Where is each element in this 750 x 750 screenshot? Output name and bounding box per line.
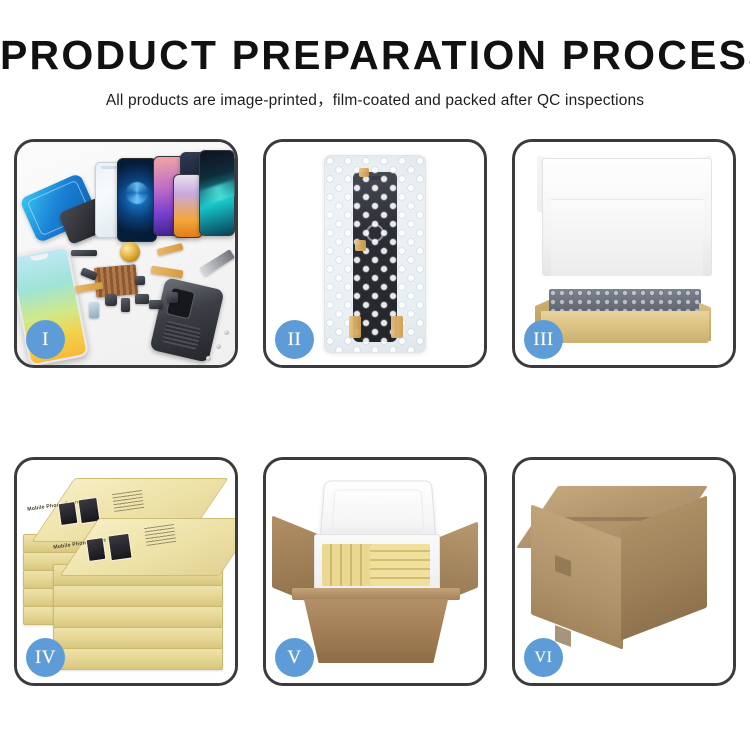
stacked-box [53, 606, 223, 628]
step-card-2[interactable]: II [263, 139, 487, 368]
bubble-texture [325, 156, 425, 352]
small-component [121, 298, 130, 312]
tape-strip [349, 316, 361, 338]
screw-part [206, 356, 211, 361]
step-card-4[interactable]: Mobile Phone Spare Parts Mobile Phone Sp… [14, 457, 238, 686]
stacked-box [53, 648, 223, 670]
step-badge-5: V [275, 638, 314, 677]
step-card-1[interactable]: I [14, 139, 238, 368]
step-card-5[interactable]: V [263, 457, 487, 686]
small-component [89, 302, 99, 318]
styrofoam-lid [319, 481, 436, 543]
box-artwork-screen [107, 533, 132, 562]
bubble-wrap-bag [324, 155, 426, 353]
carton-rim [292, 588, 460, 600]
small-component [105, 294, 117, 306]
step-badge-2: II [275, 320, 314, 359]
step-badge-3: III [524, 320, 563, 359]
small-component [149, 300, 163, 309]
gold-speaker-part [120, 242, 140, 262]
page-subtitle: All products are image-printed，film-coat… [0, 88, 750, 110]
header: PRODUCT PREPARATION PROCESS All products… [0, 34, 750, 110]
foam-liner [542, 158, 712, 276]
small-component [71, 250, 97, 256]
stacked-box [53, 585, 223, 607]
small-component [135, 276, 145, 285]
carton-front-panel [294, 599, 458, 663]
yellow-boxes-inside [370, 544, 430, 586]
process-steps-grid: I II [14, 139, 736, 686]
box-spec-lines [144, 522, 176, 546]
tape-strip [355, 240, 366, 251]
tape-strip [359, 168, 369, 177]
step-badge-1: I [26, 320, 65, 359]
step-card-6[interactable]: VI [512, 457, 736, 686]
phone-blue-display [117, 158, 157, 242]
box-artwork-screen [85, 537, 106, 562]
screw-part [224, 330, 229, 335]
stacked-box [53, 627, 223, 649]
step-card-3[interactable]: III [512, 139, 736, 368]
box-spec-lines [112, 488, 144, 512]
screw-part [216, 344, 221, 349]
phone-teal-display [199, 150, 235, 236]
step-badge-4: IV [26, 638, 65, 677]
page-title: PRODUCT PREPARATION PROCESS [0, 34, 750, 77]
step-badge-6: VI [524, 638, 563, 677]
small-component [167, 292, 178, 303]
small-component [135, 294, 149, 304]
kraft-box-front [541, 311, 709, 343]
tape-strip [391, 316, 403, 338]
box-artwork-screen [57, 501, 78, 526]
product-preparation-infographic: PRODUCT PREPARATION PROCESS All products… [0, 0, 750, 750]
